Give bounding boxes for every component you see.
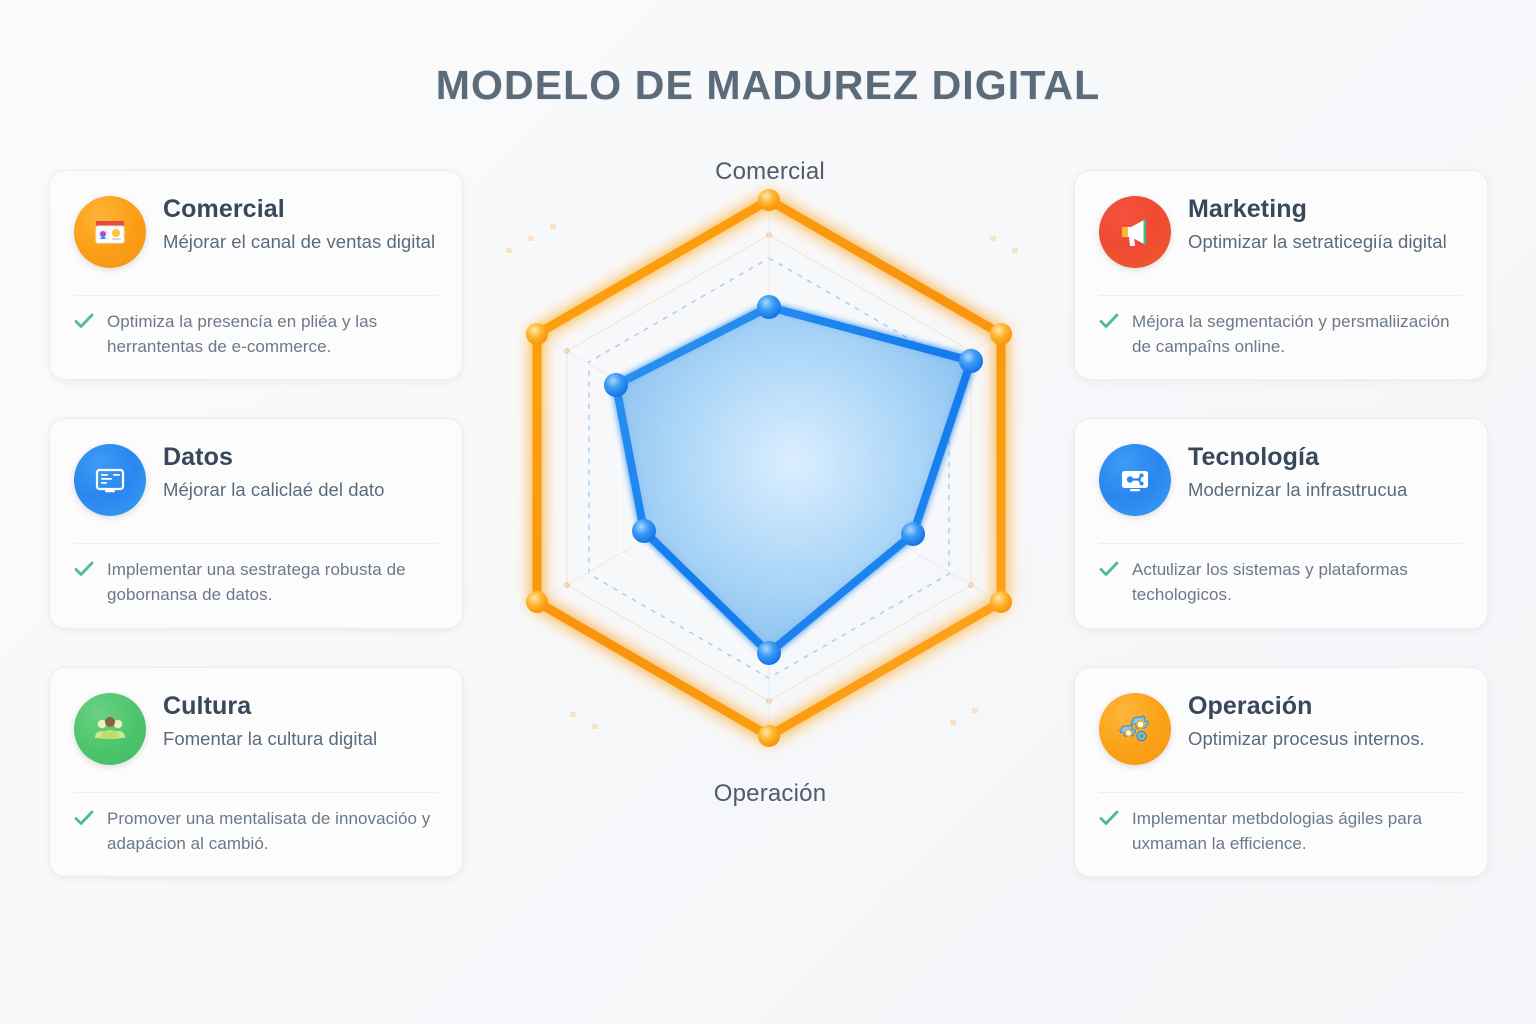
card-subtitle: Méjorar el canal de ventas digital: [163, 230, 435, 254]
radar-axis-label-comercial: Comercial: [470, 158, 1070, 186]
card-comercial[interactable]: Comercial Méjorar el canal de ventas dig…: [49, 170, 463, 380]
card-bullet-text: Implementar metbdologias ágiles para uxm…: [1132, 806, 1463, 856]
card-header: Tecnología Modernizar la infrasɩtrucua: [1099, 441, 1463, 527]
card-header: Marketing Optimizar la setraticegiía dig…: [1099, 193, 1463, 279]
check-icon: [74, 810, 94, 831]
card-title: Datos: [163, 443, 384, 471]
radar-chart: Comercial: [470, 140, 1070, 840]
card-header: Comercial Méjorar el canal de ventas dig…: [74, 193, 438, 279]
people-group-icon: [74, 693, 146, 765]
check-icon: [1099, 810, 1119, 831]
card-text-block: Operación Optimizar procesus internos.: [1188, 690, 1425, 751]
card-subtitle: Modernizar la infrasɩtrucua: [1188, 478, 1407, 502]
gears-icon: [1099, 693, 1171, 765]
card-text-block: Datos Méjorar la caliclaé del dato: [163, 441, 384, 502]
check-icon: [1099, 313, 1119, 334]
radar-axis-label-operacion: Operación: [470, 780, 1070, 808]
check-icon: [1099, 561, 1119, 582]
megaphone-icon: [1099, 196, 1171, 268]
card-title: Operación: [1188, 692, 1425, 720]
card-tecnologia[interactable]: Tecnología Modernizar la infrasɩtrucua A…: [1074, 418, 1488, 628]
card-subtitle: Méjorar la caliclaé del dato: [163, 478, 384, 502]
card-bullet: Promover una mentalisata de innovacióo y…: [74, 806, 438, 856]
card-marketing[interactable]: Marketing Optimizar la setraticegiía dig…: [1074, 170, 1488, 380]
check-icon: [74, 313, 94, 334]
radar-svg: [470, 140, 1070, 840]
card-bullet-text: Implementar una sestratega robusta de go…: [107, 557, 438, 607]
card-header: Operación Optimizar procesus internos.: [1099, 690, 1463, 776]
card-divider: [1099, 543, 1463, 544]
right-card-column: Marketing Optimizar la setraticegiía dig…: [1074, 170, 1488, 877]
card-title: Comercial: [163, 195, 435, 223]
card-bullet-text: Promover una mentalisata de innovacióo y…: [107, 806, 438, 856]
page-title: MODELO DE MADUREZ DIGITAL: [0, 62, 1536, 109]
card-bullet-text: Méjora la segmentación y persmaliización…: [1132, 309, 1463, 359]
card-title: Cultura: [163, 692, 377, 720]
left-card-column: Comercial Méjorar el canal de ventas dig…: [49, 170, 463, 877]
card-bullet-text: Actuɩlizar los sistemas y plataformas te…: [1132, 557, 1463, 607]
card-subtitle: Optimizar la setraticegiía digital: [1188, 230, 1447, 254]
card-divider: [1099, 792, 1463, 793]
card-title: Tecnología: [1188, 443, 1407, 471]
card-divider: [1099, 295, 1463, 296]
card-bullet: Actuɩlizar los sistemas y plataformas te…: [1099, 557, 1463, 607]
storefront-icon: [74, 196, 146, 268]
card-bullet-text: Optimiza la presencía en pliéa y las her…: [107, 309, 438, 359]
card-header: Cultura Fomentar la cultura digital: [74, 690, 438, 776]
card-bullet: Implementar metbdologias ágiles para uxm…: [1099, 806, 1463, 856]
card-text-block: Cultura Fomentar la cultura digital: [163, 690, 377, 751]
card-subtitle: Fomentar la cultura digital: [163, 727, 377, 751]
monitor-data-icon: [74, 444, 146, 516]
card-title: Marketing: [1188, 195, 1447, 223]
card-bullet: Implementar una sestratega robusta de go…: [74, 557, 438, 607]
card-text-block: Comercial Méjorar el canal de ventas dig…: [163, 193, 435, 254]
check-icon: [74, 561, 94, 582]
card-operacion[interactable]: Operación Optimizar procesus internos. I…: [1074, 667, 1488, 877]
card-text-block: Tecnología Modernizar la infrasɩtrucua: [1188, 441, 1407, 502]
card-subtitle: Optimizar procesus internos.: [1188, 727, 1425, 751]
card-divider: [74, 543, 438, 544]
card-bullet: Méjora la segmentación y persmaliización…: [1099, 309, 1463, 359]
card-divider: [74, 295, 438, 296]
card-divider: [74, 792, 438, 793]
card-cultura[interactable]: Cultura Fomentar la cultura digital Prom…: [49, 667, 463, 877]
monitor-network-icon: [1099, 444, 1171, 516]
card-text-block: Marketing Optimizar la setraticegiía dig…: [1188, 193, 1447, 254]
card-bullet: Optimiza la presencía en pliéa y las her…: [74, 309, 438, 359]
card-header: Datos Méjorar la caliclaé del dato: [74, 441, 438, 527]
card-datos[interactable]: Datos Méjorar la caliclaé del dato Imple…: [49, 418, 463, 628]
radar-series-actual: [616, 307, 971, 653]
